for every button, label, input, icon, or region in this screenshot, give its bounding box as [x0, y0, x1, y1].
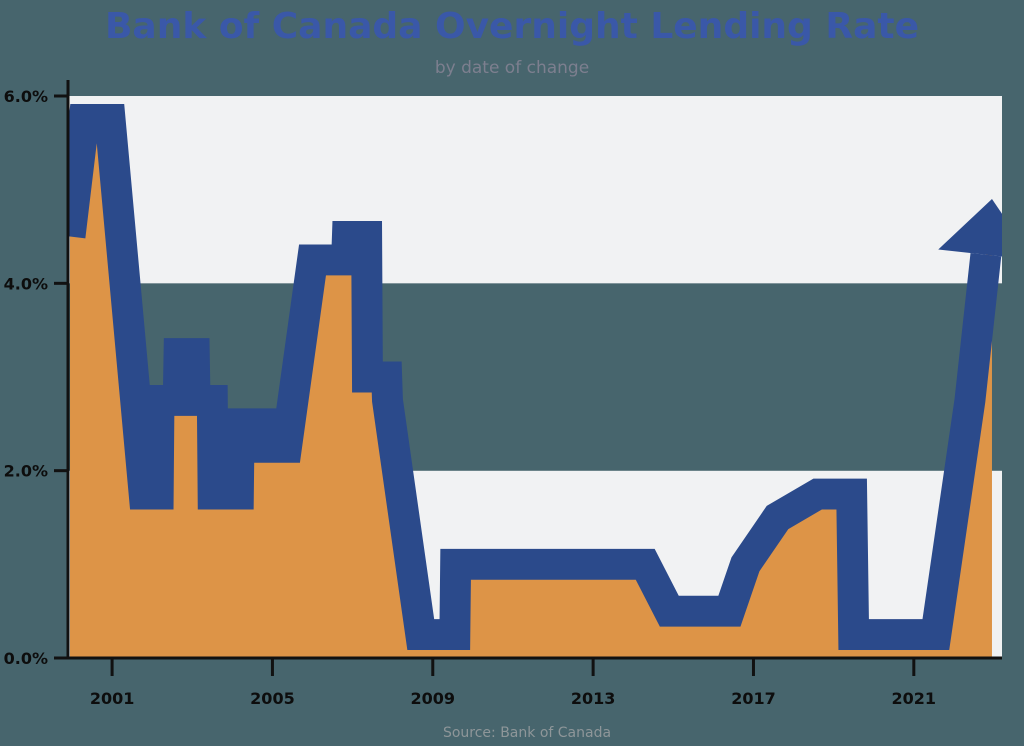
overnight-lending-rate-area-chart: 0.0%2.0%4.0%6.0%200120052009201320172021…: [0, 0, 1024, 742]
chart-source-note: Source: Bank of Canada: [443, 725, 611, 741]
y-tick-label-1: 2.0%: [4, 462, 48, 481]
y-band-4-to-6: [68, 96, 1002, 283]
x-tick-label-4: 2017: [731, 689, 776, 708]
x-tick-label-5: 2021: [892, 689, 937, 708]
y-tick-label-0: 0.0%: [4, 649, 48, 668]
chart-container: 0.0%2.0%4.0%6.0%200120052009201320172021…: [0, 0, 1024, 742]
x-tick-label-3: 2013: [571, 689, 616, 708]
x-tick-label-0: 2001: [90, 689, 135, 708]
chart-title: Bank of Canada Overnight Lending Rate: [105, 6, 919, 47]
x-tick-label-2: 2009: [411, 689, 456, 708]
y-tick-label-3: 6.0%: [4, 87, 48, 106]
y-tick-label-2: 4.0%: [4, 274, 48, 293]
chart-subtitle: by date of change: [435, 58, 589, 78]
x-tick-label-1: 2005: [250, 689, 295, 708]
